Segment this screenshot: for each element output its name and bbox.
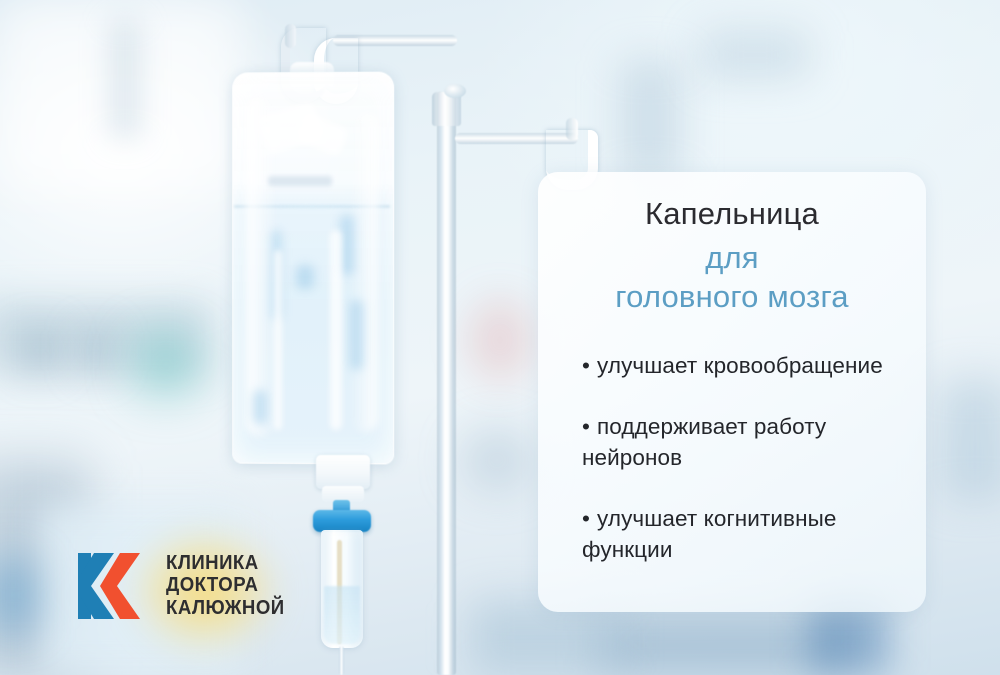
kk-logo-mark-icon (78, 553, 152, 619)
list-item-label: поддерживает работу нейронов (582, 414, 826, 469)
clinic-logo-text: КЛИНИКА ДОКТОРА КАЛЮЖНОЙ (166, 552, 285, 619)
bullet-dot: • (582, 412, 590, 442)
background-blur-shape (620, 60, 680, 180)
list-item: •улучшает когнитивные функции (564, 504, 900, 565)
background-teal-accent (140, 340, 192, 388)
background-blur-shape (940, 380, 1000, 500)
list-item: •поддерживает работу нейронов (564, 412, 900, 473)
background-blur-shape (80, 330, 112, 372)
benefit-list: •улучшает кровообращение •поддерживает р… (564, 351, 900, 565)
list-item: •улучшает кровообращение (564, 351, 900, 381)
panel-title-line-1: Капельница (564, 194, 900, 234)
background-blur-shape (110, 20, 140, 140)
clinic-logo: КЛИНИКА ДОКТОРА КАЛЮЖНОЙ (78, 552, 294, 619)
background-blur-shape (20, 330, 60, 370)
iv-tubing (339, 646, 344, 675)
logo-line-1: КЛИНИКА (166, 552, 285, 574)
background-blur-shape (462, 430, 532, 490)
list-item-label: улучшает когнитивные функции (582, 506, 836, 561)
background-blur-shape (470, 300, 530, 380)
blue-roller-collar (313, 510, 371, 532)
background-blur-shape (0, 560, 36, 630)
info-panel: Капельница для головного мозга •улучшает… (538, 172, 926, 612)
bullet-dot: • (582, 504, 590, 534)
advertisement-banner: Капельница для головного мозга •улучшает… (0, 0, 1000, 675)
panel-title-line-3: головного мозга (564, 277, 900, 317)
bullet-dot: • (582, 351, 590, 381)
background-blur-shape (700, 30, 810, 80)
list-item-label: улучшает кровообращение (597, 353, 883, 378)
logo-line-2: ДОКТОРА (166, 574, 285, 596)
panel-title-line-2: для (564, 238, 900, 278)
logo-line-3: КАЛЮЖНОЙ (166, 597, 285, 619)
